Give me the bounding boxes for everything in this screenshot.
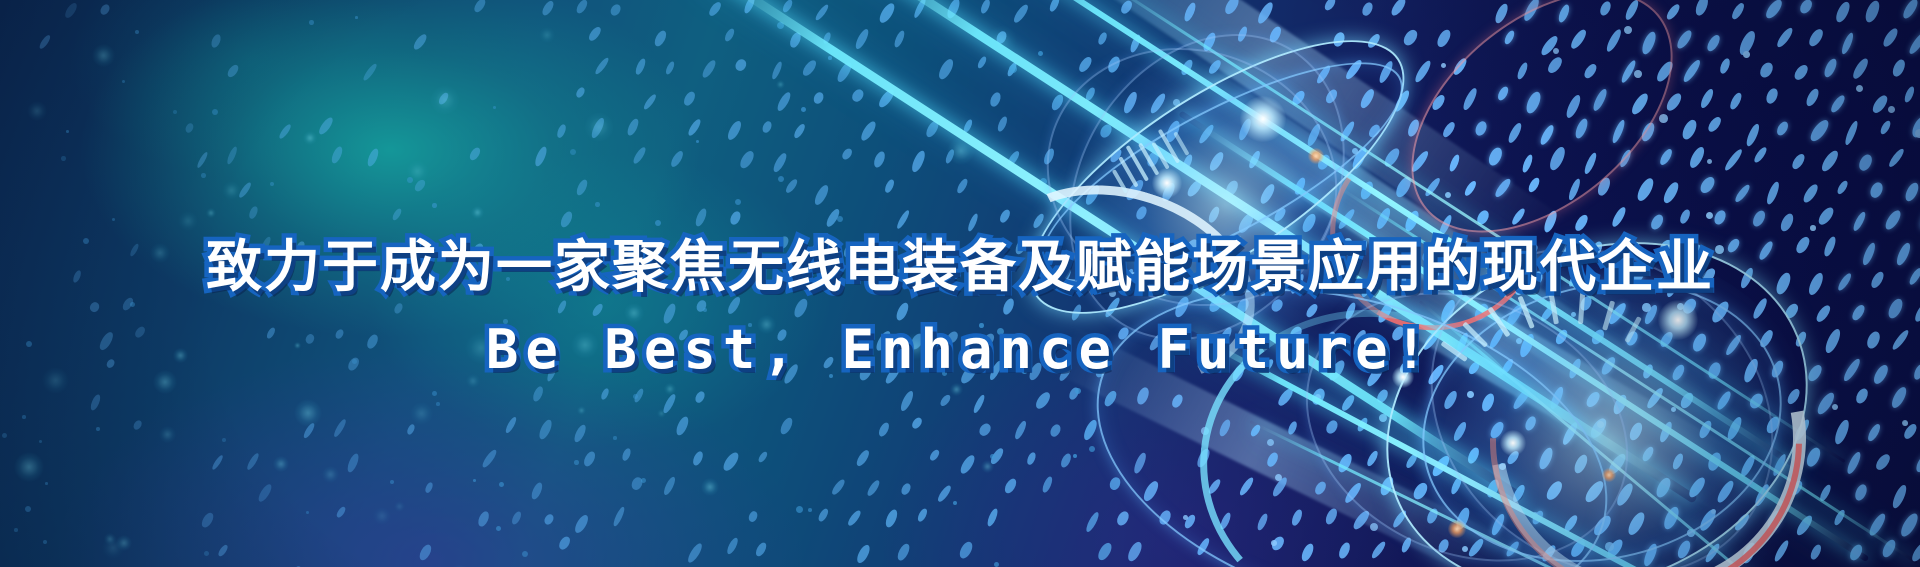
headline-block: 致力于成为一家聚焦无线电装备及赋能场景应用的现代企业 Be Best, Enha… [0,238,1920,380]
headline-english: Be Best, Enhance Future! [0,320,1920,379]
headline-chinese: 致力于成为一家聚焦无线电装备及赋能场景应用的现代企业 [0,238,1920,298]
hero-banner: 致力于成为一家聚焦无线电装备及赋能场景应用的现代企业 Be Best, Enha… [0,0,1920,567]
